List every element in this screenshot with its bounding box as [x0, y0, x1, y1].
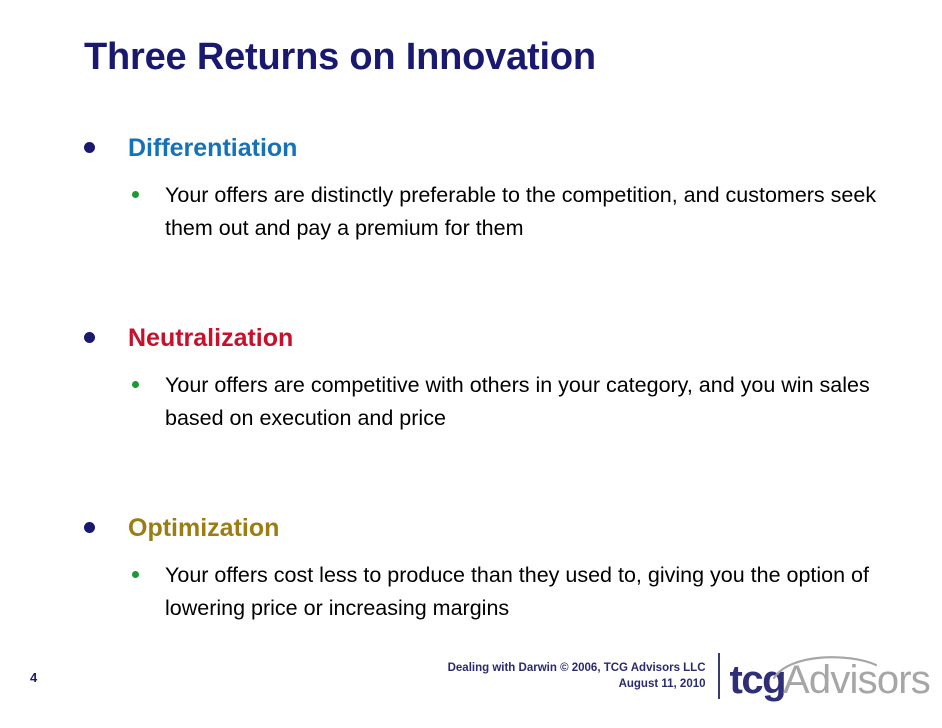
slide: Three Returns on Innovation Differentiat…: [0, 0, 942, 728]
footer-divider: [718, 653, 720, 699]
logo-secondary-text: Advisors: [783, 660, 930, 700]
bullet-item-level2: Your offers are distinctly preferable to…: [132, 179, 914, 245]
bullet-group-differentiation: Differentiation Your offers are distinct…: [84, 133, 914, 245]
page-number: 4: [30, 670, 37, 685]
bullet-detail-differentiation: Your offers are distinctly preferable to…: [165, 179, 907, 245]
bullet-item-level2: Your offers cost less to produce than th…: [132, 559, 914, 625]
footer-credit-line2: August 11, 2010: [448, 676, 706, 692]
bullet-item-level1: Optimization: [84, 513, 914, 547]
bullet-dot-icon: [84, 332, 95, 343]
sub-bullet-dot-icon: [132, 381, 139, 388]
bullet-item-level1: Differentiation: [84, 133, 914, 167]
tcg-advisors-logo: tcg Advisors: [730, 652, 930, 700]
bullet-detail-neutralization: Your offers are competitive with others …: [165, 369, 907, 435]
bullet-heading-optimization: Optimization: [128, 513, 279, 543]
bullet-heading-differentiation: Differentiation: [128, 133, 297, 163]
slide-footer: Dealing with Darwin © 2006, TCG Advisors…: [448, 652, 930, 700]
footer-credit-line1: Dealing with Darwin © 2006, TCG Advisors…: [448, 660, 706, 676]
bullet-group-neutralization: Neutralization Your offers are competiti…: [84, 323, 914, 435]
bullet-dot-icon: [84, 522, 95, 533]
bullet-heading-neutralization: Neutralization: [128, 323, 293, 353]
bullet-group-optimization: Optimization Your offers cost less to pr…: [84, 513, 914, 625]
footer-credit: Dealing with Darwin © 2006, TCG Advisors…: [448, 660, 718, 692]
bullet-detail-optimization: Your offers cost less to produce than th…: [165, 559, 907, 625]
logo-primary-text: tcg: [730, 660, 786, 700]
sub-bullet-dot-icon: [132, 571, 139, 578]
bullet-dot-icon: [84, 142, 95, 153]
sub-bullet-dot-icon: [132, 191, 139, 198]
page-title: Three Returns on Innovation: [84, 36, 596, 79]
bullet-item-level1: Neutralization: [84, 323, 914, 357]
bullet-item-level2: Your offers are competitive with others …: [132, 369, 914, 435]
bullet-list: Differentiation Your offers are distinct…: [84, 133, 914, 625]
